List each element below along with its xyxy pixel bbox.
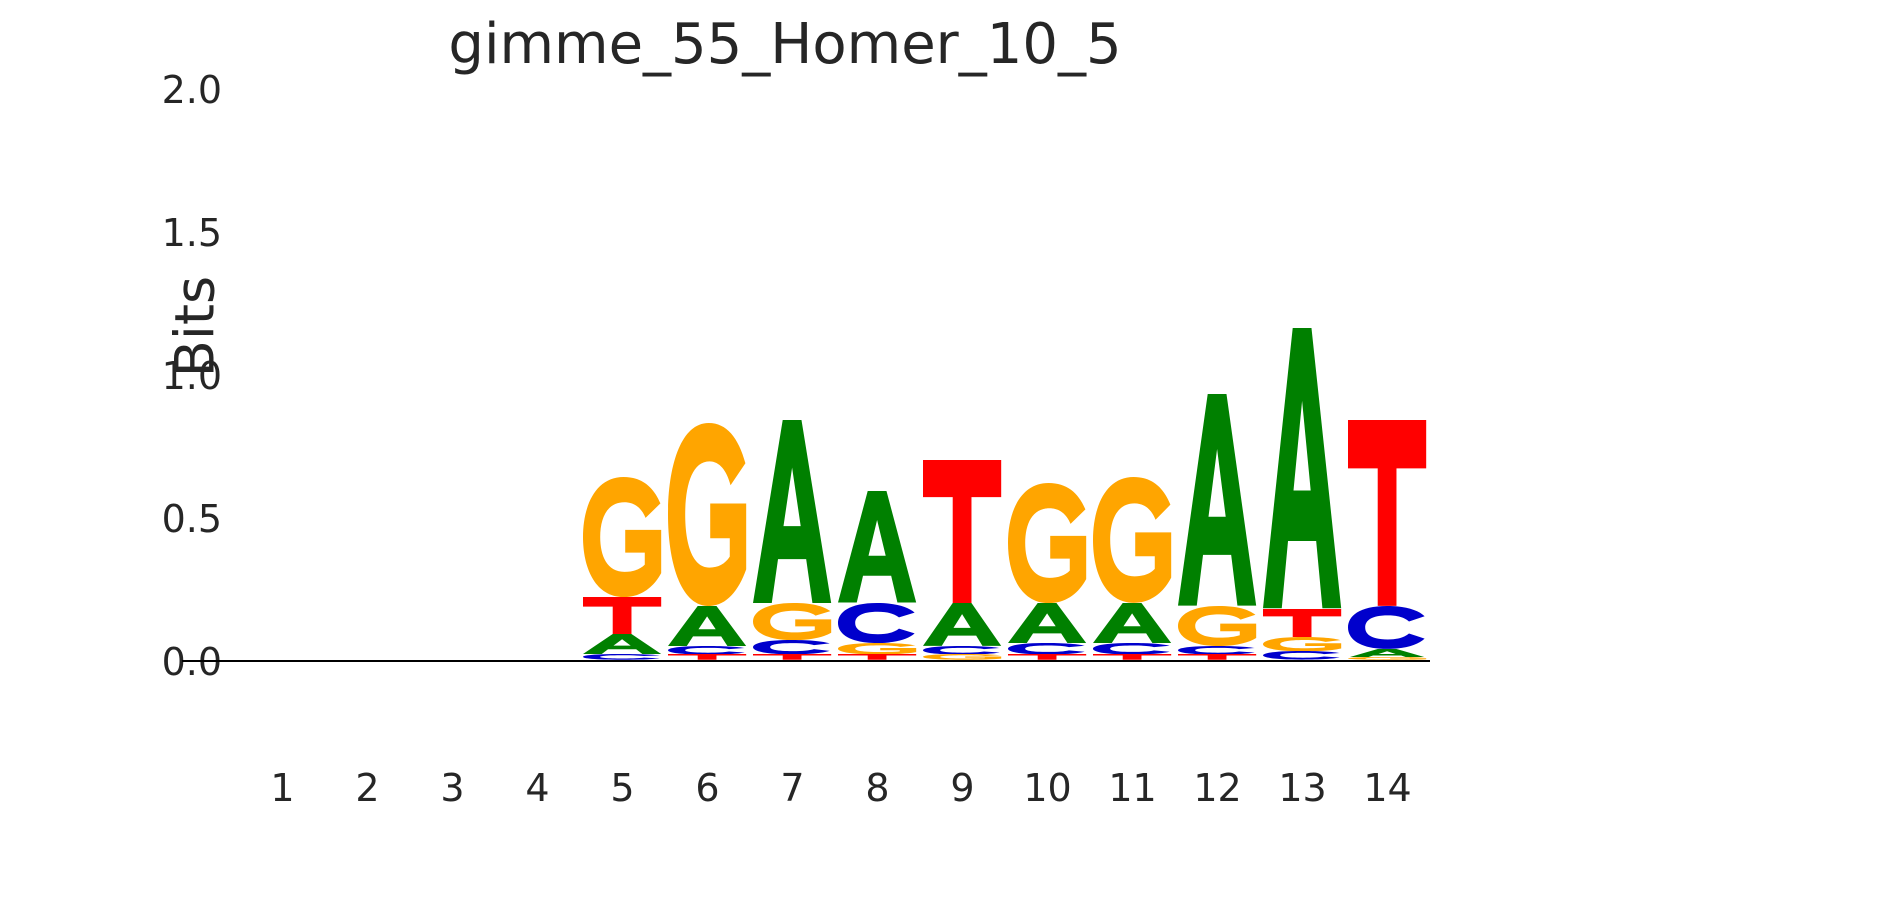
logo-letter-G <box>753 603 831 640</box>
x-tick-label: 14 <box>1363 766 1411 810</box>
x-tick-label: 2 <box>355 766 379 810</box>
logo-stack-position-7 <box>753 420 831 660</box>
x-tick-label: 7 <box>780 766 804 810</box>
logo-letter-A <box>1178 394 1256 606</box>
logo-letter-C <box>1008 643 1086 654</box>
logo-letter-C <box>668 646 746 655</box>
sequence-logo-figure: gimme_55_Homer_10_5 Bits 0.00.51.01.52.0… <box>0 0 1890 900</box>
logo-letter-A <box>668 606 746 646</box>
logo-letter-T <box>1008 654 1086 660</box>
logo-letter-T <box>923 460 1001 603</box>
x-tick-label: 13 <box>1278 766 1326 810</box>
y-tick-label: 0.5 <box>102 497 222 541</box>
logo-letter-G <box>583 477 661 597</box>
logo-letter-C <box>1348 606 1426 649</box>
logo-letter-C <box>753 640 831 654</box>
page-title: gimme_55_Homer_10_5 <box>0 12 1570 77</box>
logo-letter-A <box>583 634 661 654</box>
y-tick-label: 0.0 <box>102 640 222 684</box>
logo-letter-G <box>1093 477 1171 603</box>
logo-letter-T <box>753 654 831 660</box>
logo-letter-T <box>583 597 661 634</box>
logo-letter-A <box>1348 649 1426 658</box>
plot-axes: Bits 0.00.51.01.52.0 1234567891011121314 <box>240 90 1430 662</box>
logo-letter-G <box>668 423 746 606</box>
logo-letter-T <box>668 654 746 660</box>
logo-stack-position-5 <box>583 477 661 660</box>
logo-letter-C <box>923 646 1001 655</box>
x-tick-label: 9 <box>950 766 974 810</box>
logo-letter-A <box>838 491 916 603</box>
y-tick-label: 1.5 <box>102 211 222 255</box>
x-axis-line <box>182 660 1430 662</box>
logo-letter-G <box>1348 657 1426 660</box>
x-tick-label: 4 <box>525 766 549 810</box>
logo-stack-position-12 <box>1178 394 1256 660</box>
logo-letter-G <box>923 654 1001 660</box>
logo-stacks <box>240 90 1430 660</box>
logo-stack-position-14 <box>1348 420 1426 660</box>
x-tick-label: 3 <box>440 766 464 810</box>
logo-letter-G <box>1263 637 1341 651</box>
logo-stack-position-13 <box>1263 328 1341 660</box>
logo-stack-position-6 <box>668 423 746 660</box>
y-tick-label: 1.0 <box>102 354 222 398</box>
logo-letter-A <box>1008 603 1086 643</box>
logo-letter-C <box>1093 643 1171 654</box>
logo-letter-T <box>1093 654 1171 660</box>
logo-letter-A <box>1093 603 1171 643</box>
y-tick-label: 2.0 <box>102 68 222 112</box>
logo-letter-G <box>1178 606 1256 646</box>
x-tick-label: 11 <box>1108 766 1156 810</box>
x-tick-label: 10 <box>1023 766 1071 810</box>
logo-letter-C <box>583 654 661 660</box>
x-tick-label: 5 <box>610 766 634 810</box>
logo-letter-A <box>753 420 831 603</box>
logo-letter-T <box>1178 654 1256 660</box>
logo-letter-T <box>838 654 916 660</box>
logo-letter-C <box>838 603 916 643</box>
logo-stack-position-8 <box>838 491 916 660</box>
logo-letter-C <box>1263 651 1341 660</box>
x-tick-label: 1 <box>270 766 294 810</box>
logo-stack-position-10 <box>1008 483 1086 660</box>
logo-letter-T <box>1263 609 1341 638</box>
x-tick-label: 8 <box>865 766 889 810</box>
logo-letter-C <box>1178 646 1256 655</box>
logo-letter-A <box>1263 328 1341 608</box>
logo-letter-G <box>838 643 916 654</box>
logo-letter-T <box>1348 420 1426 606</box>
logo-letter-A <box>923 603 1001 646</box>
logo-stack-position-9 <box>923 460 1001 660</box>
x-tick-label: 12 <box>1193 766 1241 810</box>
logo-stack-position-11 <box>1093 477 1171 660</box>
logo-letter-G <box>1008 483 1086 603</box>
x-tick-label: 6 <box>695 766 719 810</box>
